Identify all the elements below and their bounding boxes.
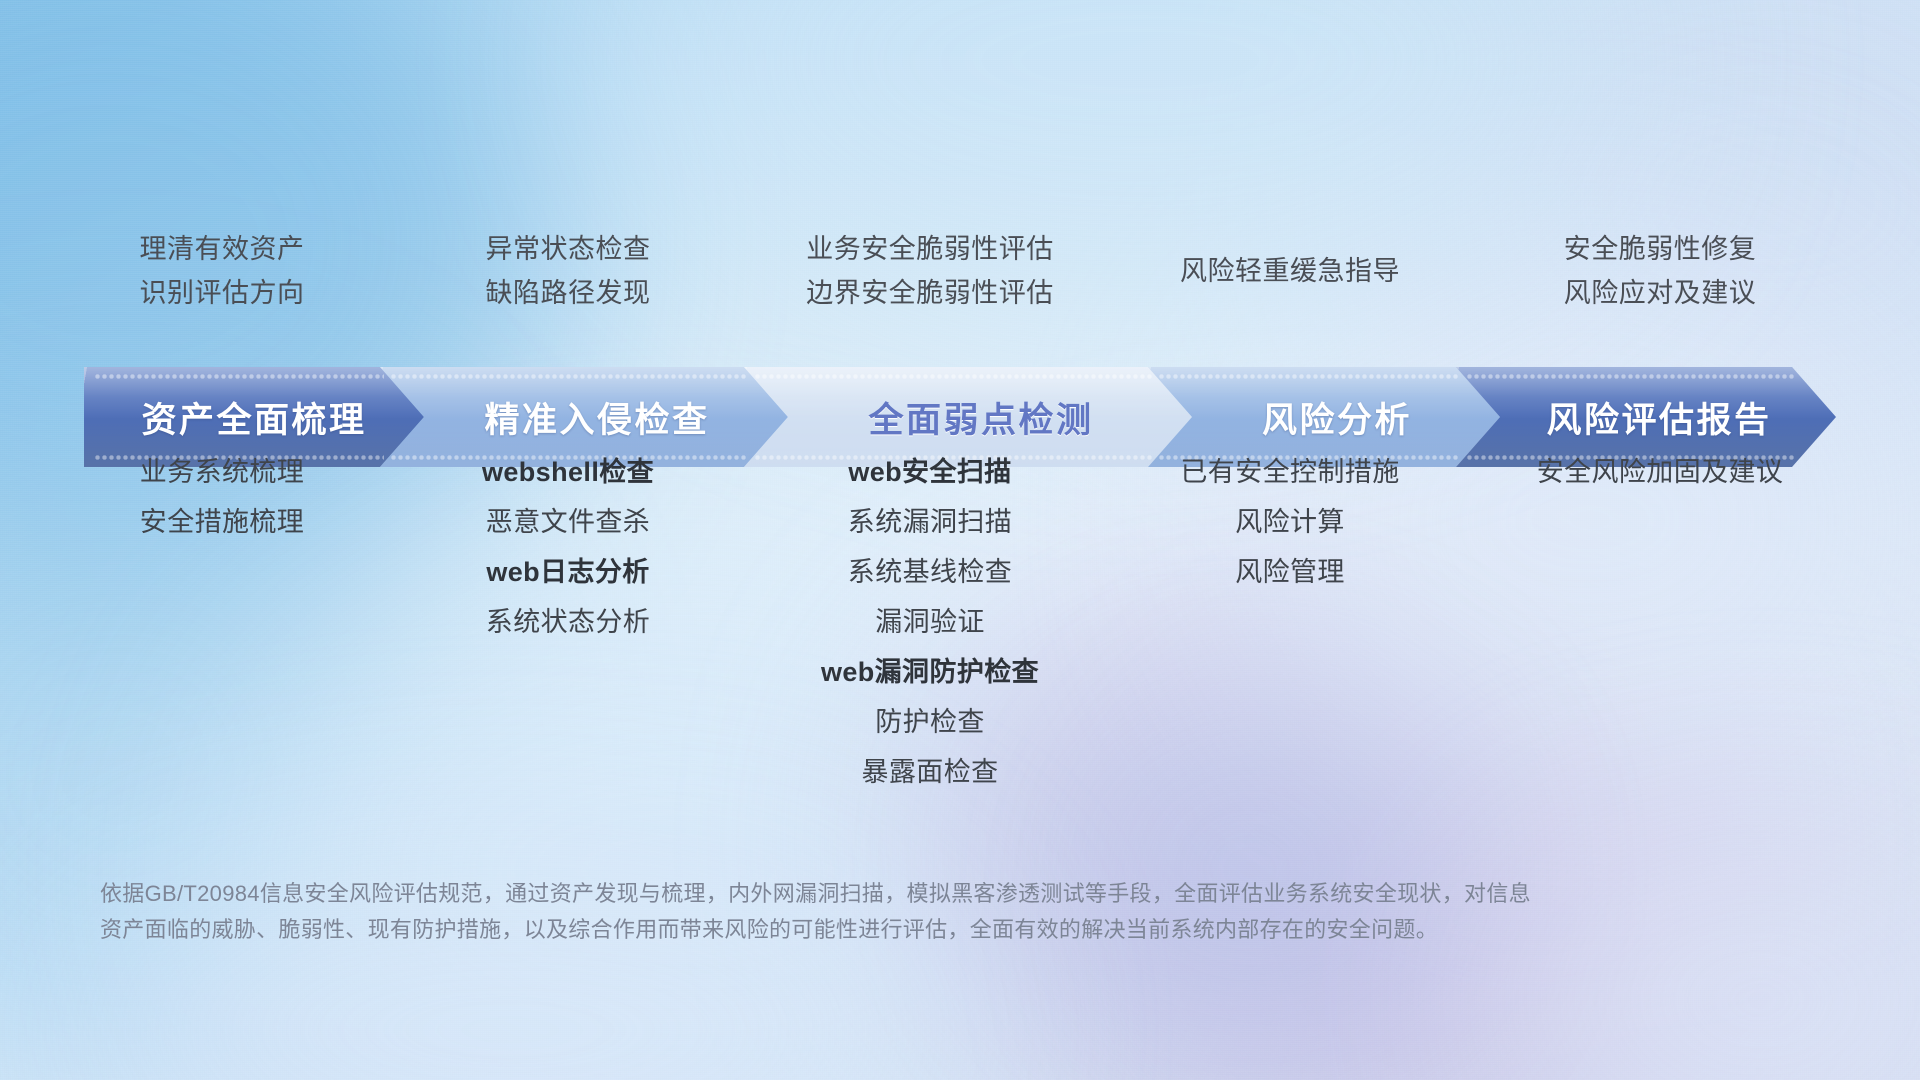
chevron-dot-pattern-top (94, 373, 384, 380)
list-item: 风险管理 (1235, 548, 1345, 598)
chevron-label: 资产全面梳理 (141, 392, 366, 443)
list-item: webshell检查 (482, 448, 654, 498)
diagram-stage: 理清有效资产识别评估方向异常状态检查缺陷路径发现业务安全脆弱性评估边界安全脆弱性… (0, 0, 1920, 1080)
chevron-dot-pattern-top (1466, 373, 1796, 380)
top-notes-group-intrusion-check: 异常状态检查缺陷路径发现 (486, 228, 651, 315)
top-notes-group-asset-inventory: 理清有效资产识别评估方向 (140, 228, 305, 315)
list-item: web日志分析 (486, 548, 649, 598)
top-note: 边界安全脆弱性评估 (806, 272, 1054, 316)
list-item: 安全风险加固及建议 (1537, 448, 1784, 498)
bottom-list-risk-analysis: 已有安全控制措施风险计算风险管理 (1180, 448, 1399, 598)
list-item: 防护检查 (875, 698, 985, 748)
top-note: 异常状态检查 (486, 228, 651, 272)
footer-line-1: 依据GB/T20984信息安全风险评估规范，通过资产发现与梳理，内外网漏洞扫描，… (100, 876, 1660, 912)
top-note: 风险轻重缓急指导 (1180, 250, 1400, 294)
list-item: 暴露面检查 (862, 748, 999, 798)
top-notes-group-risk-analysis: 风险轻重缓急指导 (1180, 250, 1400, 294)
bottom-list-asset-inventory: 业务系统梳理安全措施梳理 (140, 448, 304, 548)
chevron-dot-pattern-top (1158, 373, 1460, 380)
top-note: 缺陷路径发现 (486, 272, 651, 316)
list-item: 安全措施梳理 (140, 498, 304, 548)
list-item: 恶意文件查杀 (486, 498, 650, 548)
top-note: 理清有效资产 (140, 228, 305, 272)
list-item: 业务系统梳理 (140, 448, 304, 498)
chevron-label: 风险评估报告 (1546, 392, 1771, 443)
bottom-list-risk-report: 安全风险加固及建议 (1537, 448, 1784, 498)
chevron-dot-pattern-top (390, 373, 748, 380)
chevron-dot-pattern-top (754, 373, 1152, 380)
chevron-label: 风险分析 (1262, 392, 1412, 443)
chevron-label: 全面弱点检测 (868, 392, 1093, 443)
list-item: web漏洞防护检查 (821, 648, 1039, 698)
top-notes-group-risk-report: 安全脆弱性修复风险应对及建议 (1564, 228, 1757, 315)
top-notes-group-weakness-detection: 业务安全脆弱性评估边界安全脆弱性评估 (806, 228, 1054, 315)
top-note: 业务安全脆弱性评估 (806, 228, 1054, 272)
top-note: 风险应对及建议 (1564, 272, 1757, 316)
list-item: 漏洞验证 (875, 598, 985, 648)
footer-description: 依据GB/T20984信息安全风险评估规范，通过资产发现与梳理，内外网漏洞扫描，… (100, 876, 1660, 947)
list-item: 系统状态分析 (486, 598, 650, 648)
bottom-list-intrusion-check: webshell检查恶意文件查杀web日志分析系统状态分析 (482, 448, 654, 648)
list-item: 系统基线检查 (848, 548, 1012, 598)
list-item: 系统漏洞扫描 (848, 498, 1012, 548)
top-note: 识别评估方向 (140, 272, 305, 316)
list-item: web安全扫描 (848, 448, 1011, 498)
list-item: 风险计算 (1235, 498, 1345, 548)
chevron-label: 精准入侵检查 (484, 392, 709, 443)
bottom-list-weakness-detection: web安全扫描系统漏洞扫描系统基线检查漏洞验证web漏洞防护检查防护检查暴露面检… (821, 448, 1039, 798)
footer-line-2: 资产面临的威胁、脆弱性、现有防护措施，以及综合作用而带来风险的可能性进行评估，全… (100, 912, 1660, 948)
list-item: 已有安全控制措施 (1180, 448, 1399, 498)
top-note: 安全脆弱性修复 (1564, 228, 1757, 272)
